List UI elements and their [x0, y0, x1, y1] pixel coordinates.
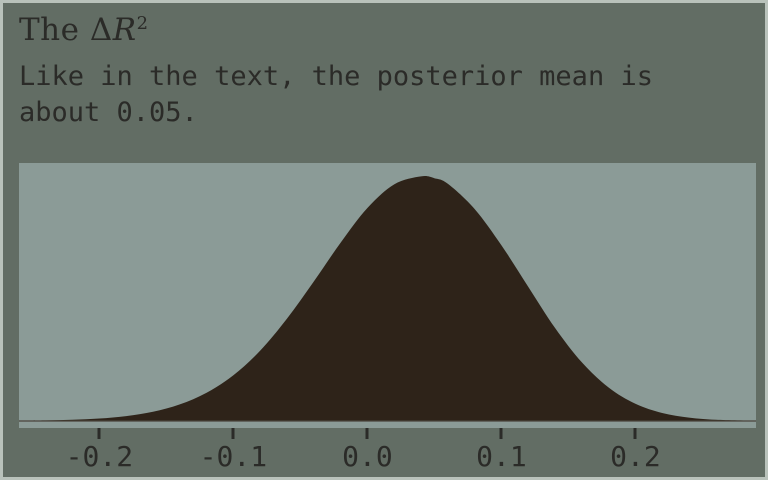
screenshot-canvas: The ΔR2 Like in the text, the posterior …: [0, 0, 768, 480]
delta-symbol: Δ: [90, 12, 113, 48]
x-axis-tick-label: 0.2: [610, 440, 661, 473]
page-title: The ΔR2: [19, 11, 755, 50]
density-plot: [19, 163, 756, 428]
density-curve-svg: [19, 163, 756, 428]
header-text-block: The ΔR2 Like in the text, the posterior …: [19, 11, 755, 131]
x-axis-tick-mark: [98, 428, 101, 439]
title-prefix: The: [19, 12, 90, 48]
x-axis-tick-label: -0.1: [200, 440, 267, 473]
page-subtitle: Like in the text, the posterior mean is …: [19, 59, 739, 131]
x-axis-tick-mark: [634, 428, 637, 439]
x-axis-tick-mark: [232, 428, 235, 439]
x-axis-tick-label: -0.2: [66, 440, 133, 473]
x-axis-tick-label: 0.1: [476, 440, 527, 473]
exponent-two: 2: [137, 13, 149, 34]
r-symbol: R: [113, 12, 137, 48]
density-area-path: [19, 176, 756, 421]
x-axis-tick-label: 0.0: [342, 440, 393, 473]
x-axis: -0.2-0.10.00.10.2: [19, 428, 756, 478]
x-axis-tick-mark: [366, 428, 369, 439]
x-axis-tick-mark: [500, 428, 503, 439]
